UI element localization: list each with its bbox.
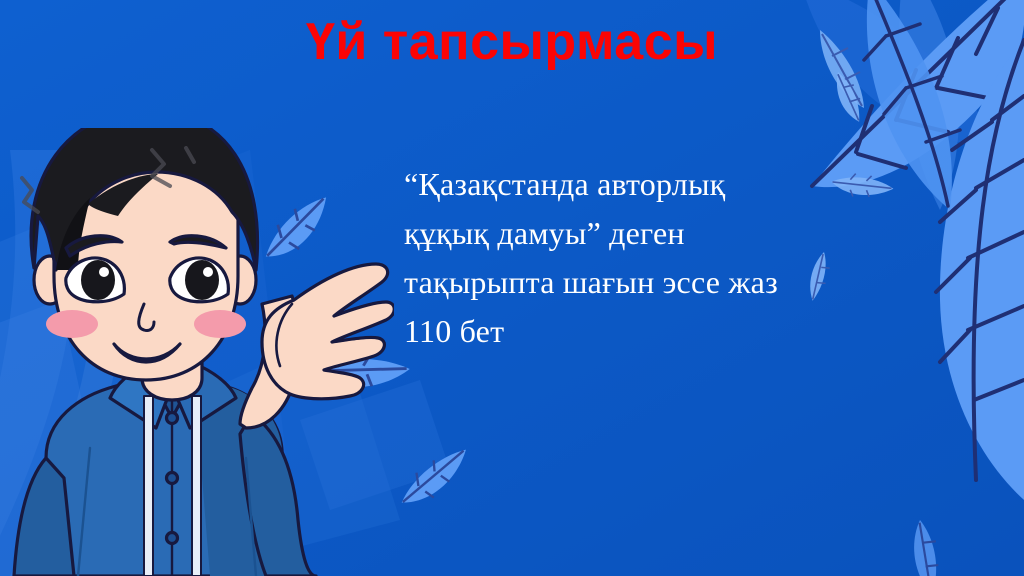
assignment-line-3: тақырыпта шағын эссе жаз xyxy=(404,258,964,307)
cartoon-boy-waving xyxy=(0,128,394,576)
slide-title: Үй тапсырмасы xyxy=(0,14,1024,71)
presentation-slide: Үй тапсырмасы “Қазақстанда авторлық құқы… xyxy=(0,0,1024,576)
assignment-line-1: “Қазақстанда авторлық xyxy=(404,160,964,209)
waving-hand xyxy=(262,264,394,399)
assignment-line-2: құқық дамуы” деген xyxy=(404,209,964,258)
head xyxy=(22,128,258,380)
assignment-text-block: “Қазақстанда авторлық құқық дамуы” деген… xyxy=(404,160,964,356)
assignment-line-4: 110 бет xyxy=(404,307,964,356)
